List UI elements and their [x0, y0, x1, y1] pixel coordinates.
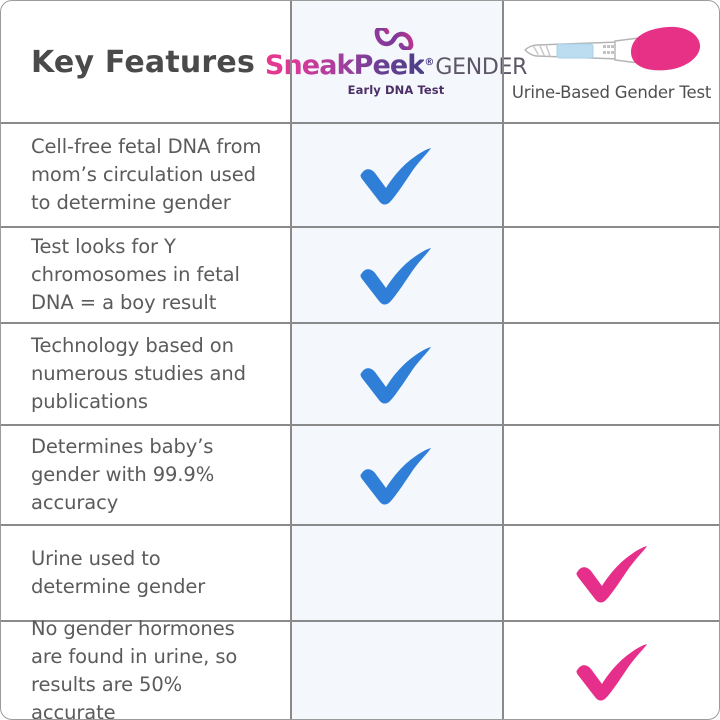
- feature-text: Cell-free fetal DNA from mom’s circulati…: [1, 133, 290, 217]
- urine-cell: [502, 621, 720, 720]
- registered-trademark-symbol: ®: [424, 58, 434, 68]
- feature-cell: Technology based on numerous studies and…: [1, 323, 290, 425]
- header-cell-sneakpeek: SneakPeek ® GENDER Early DNA Test: [290, 1, 502, 123]
- feature-text: Determines baby’s gender with 99.9% accu…: [1, 433, 290, 517]
- table-row: No gender hormones are found in urine, s…: [1, 621, 720, 720]
- blue-checkmark-icon: [351, 442, 441, 508]
- feature-text: Urine used to determine gender: [1, 545, 290, 601]
- table-row: Cell-free fetal DNA from mom’s circulati…: [1, 123, 720, 227]
- feature-text: Test looks for Y chromosomes in fetal DN…: [1, 233, 290, 317]
- sneakpeek-wordmark: SneakPeek ® GENDER: [265, 52, 527, 79]
- sneakpeek-cell: [290, 123, 502, 227]
- page-title: Key Features: [1, 45, 255, 80]
- feature-cell: Urine used to determine gender: [1, 525, 290, 621]
- comparison-table: Key Features SneakP: [0, 0, 720, 720]
- sneakpeek-cell: [290, 425, 502, 525]
- dna-loop-icon: [373, 28, 419, 50]
- blue-checkmark-icon: [351, 242, 441, 308]
- urine-test-label: Urine-Based Gender Test: [512, 83, 711, 102]
- feature-text: No gender hormones are found in urine, s…: [1, 615, 290, 720]
- sneakpeek-cell: [290, 227, 502, 323]
- urine-cell: [502, 227, 720, 323]
- feature-text: Technology based on numerous studies and…: [1, 332, 290, 416]
- feature-cell: Test looks for Y chromosomes in fetal DN…: [1, 227, 290, 323]
- urine-cell: [502, 323, 720, 425]
- sneakpeek-cell: [290, 525, 502, 621]
- logo-brand-name: SneakPeek: [265, 52, 424, 79]
- feature-cell: Determines baby’s gender with 99.9% accu…: [1, 425, 290, 525]
- sneakpeek-cell: [290, 323, 502, 425]
- feature-cell: No gender hormones are found in urine, s…: [1, 621, 290, 720]
- header-cell-key-features: Key Features: [1, 45, 290, 80]
- feature-cell: Cell-free fetal DNA from mom’s circulati…: [1, 123, 290, 227]
- pink-checkmark-icon: [567, 540, 657, 606]
- table-row: Determines baby’s gender with 99.9% accu…: [1, 425, 720, 525]
- pink-checkmark-icon: [567, 638, 657, 704]
- table-row: Technology based on numerous studies and…: [1, 323, 720, 425]
- header-cell-urine-test: Urine-Based Gender Test: [502, 1, 720, 123]
- urine-test-header: Urine-Based Gender Test: [502, 1, 720, 123]
- urine-cell: [502, 123, 720, 227]
- blue-checkmark-icon: [351, 142, 441, 208]
- logo-tagline: Early DNA Test: [348, 83, 445, 97]
- table-row: Urine used to determine gender: [1, 525, 720, 621]
- blue-checkmark-icon: [351, 341, 441, 407]
- table-header-row: Key Features SneakP: [1, 1, 720, 123]
- table-row: Test looks for Y chromosomes in fetal DN…: [1, 227, 720, 323]
- sneakpeek-cell: [290, 621, 502, 720]
- urine-test-stick-icon: [519, 23, 704, 79]
- urine-cell: [502, 525, 720, 621]
- sneakpeek-logo: SneakPeek ® GENDER Early DNA Test: [290, 1, 502, 123]
- urine-cell: [502, 425, 720, 525]
